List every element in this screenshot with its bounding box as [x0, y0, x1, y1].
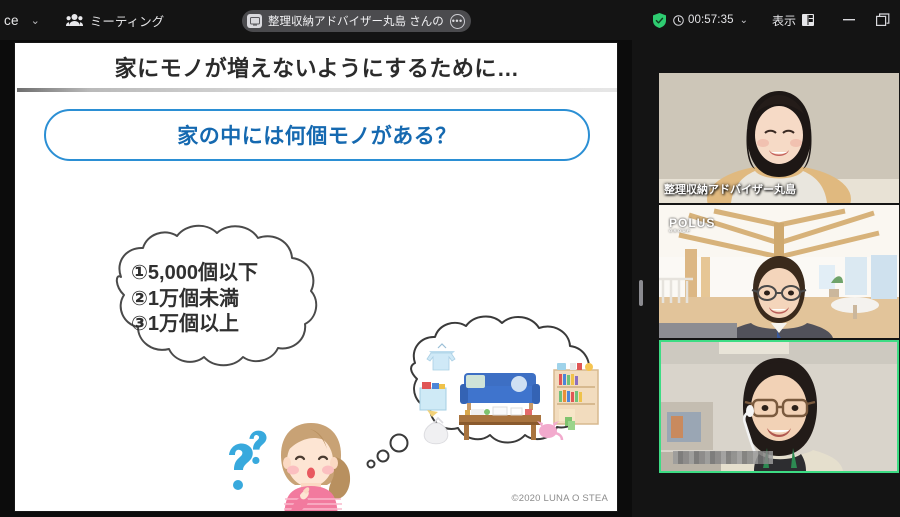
minimize-button[interactable] — [832, 0, 866, 40]
option-2: ②1万個未満 — [131, 287, 381, 313]
title-bar-left: ce ⌄ ミーティング — [0, 11, 164, 30]
clock-icon — [673, 15, 684, 26]
living-room-illustration — [407, 339, 607, 449]
view-layout-button[interactable]: 表示 — [772, 12, 814, 29]
slide-title: 家にモノが増えないようにするために… — [15, 51, 618, 83]
answer-options: ①5,000個以下 ②1万個未満 ③1万個以上 — [131, 261, 381, 338]
view-label: 表示 — [772, 12, 796, 29]
panel-resize-handle[interactable] — [639, 280, 643, 306]
shared-screen-area[interactable]: 家にモノが増えないようにするために… 家の中には何個モノがある？ ①5,000個… — [0, 40, 632, 517]
people-icon — [66, 13, 83, 27]
title-divider — [17, 88, 617, 92]
meeting-window: ce ⌄ ミーティング — [0, 0, 900, 517]
polus-watermark: POLUSGROUP — [669, 213, 715, 233]
panel-splitter[interactable] — [632, 40, 654, 517]
meeting-timer[interactable]: 00:57:35 ⌄ — [673, 14, 748, 26]
copyright-text: ©2020 LUNA O STEA — [512, 493, 608, 504]
participant-name-badge: 整理収納アドバイザー丸島 — [664, 181, 796, 197]
meeting-tab[interactable]: ミーティング — [66, 11, 164, 30]
participant-video-column: 整理収納アドバイザー丸島 — [654, 40, 900, 517]
option-1: ①5,000個以下 — [131, 261, 381, 287]
thought-bubble-options: ①5,000個以下 ②1万個未満 ③1万個以上 — [63, 225, 373, 385]
app-name-label: ce — [4, 13, 19, 28]
share-indicator-pill[interactable]: 整理収納アドバイザー丸島 さんの ••• — [242, 10, 471, 32]
title-bar-right: 00:57:35 ⌄ 表示 — [653, 0, 900, 40]
restore-window-button[interactable] — [866, 0, 900, 40]
participant-video-tile[interactable]: POLUSGROUP — [659, 205, 899, 338]
layout-grid-icon — [802, 14, 814, 26]
question-text: 家の中には何個モノがある？ — [177, 120, 457, 150]
blurred-name-overlay — [673, 451, 773, 464]
chevron-down-icon[interactable]: ⌄ — [740, 15, 748, 26]
thinking-woman-illustration — [253, 415, 373, 512]
participant-video-tile[interactable]: 整理収納アドバイザー丸島 — [659, 73, 899, 203]
question-box: 家の中には何個モノがある？ — [44, 109, 590, 161]
option-3: ③1万個以上 — [131, 312, 381, 338]
share-indicator-label: 整理収納アドバイザー丸島 さんの — [268, 13, 444, 29]
chevron-down-icon[interactable]: ⌄ — [19, 14, 48, 27]
participant-video-tile-active[interactable] — [659, 340, 899, 473]
more-options-icon[interactable]: ••• — [450, 14, 465, 29]
title-bar: ce ⌄ ミーティング — [0, 0, 900, 40]
shield-icon[interactable] — [653, 13, 673, 28]
timer-value: 00:57:35 — [688, 14, 734, 26]
presentation-slide: 家にモノが増えないようにするために… 家の中には何個モノがある？ ①5,000個… — [14, 42, 618, 512]
screen-share-icon — [247, 14, 262, 28]
meeting-tab-label: ミーティング — [90, 11, 164, 30]
